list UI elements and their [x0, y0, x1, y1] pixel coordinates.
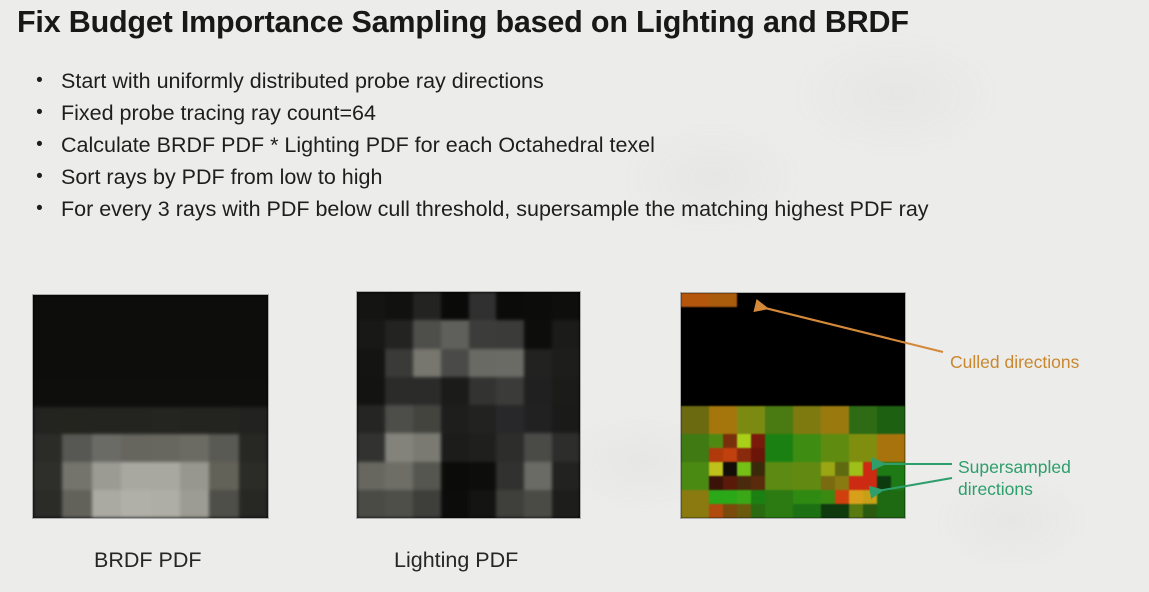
- bullet-text: Start with uniformly distributed probe r…: [61, 66, 544, 96]
- bullet-marker: •: [18, 66, 61, 96]
- supersampled-directions-label: Supersampled directions: [958, 456, 1071, 500]
- bullet-marker: •: [18, 162, 61, 192]
- slide-title: Fix Budget Importance Sampling based on …: [17, 5, 1137, 40]
- bullet-text: For every 3 rays with PDF below cull thr…: [61, 194, 929, 224]
- brdf-pdf-image: [33, 295, 268, 518]
- bullet-marker: •: [18, 194, 61, 224]
- lighting-pdf-caption: Lighting PDF: [394, 548, 518, 573]
- bullet-item: • For every 3 rays with PDF below cull t…: [18, 194, 1143, 226]
- bullet-marker: •: [18, 98, 61, 128]
- combined-pdf-image: [681, 293, 905, 518]
- result-pixel-grid: [681, 293, 905, 518]
- supersampled-label-line2: directions: [958, 478, 1071, 500]
- bullet-item: • Start with uniformly distributed probe…: [18, 66, 1143, 98]
- bullet-item: • Sort rays by PDF from low to high: [18, 162, 1143, 194]
- bullet-item: • Fixed probe tracing ray count=64: [18, 98, 1143, 130]
- brdf-pdf-caption: BRDF PDF: [94, 548, 202, 573]
- lighting-pdf-image: [357, 292, 580, 518]
- bullet-text: Fixed probe tracing ray count=64: [61, 98, 376, 128]
- bullet-item: • Calculate BRDF PDF * Lighting PDF for …: [18, 130, 1143, 162]
- bullet-list: • Start with uniformly distributed probe…: [18, 66, 1143, 226]
- bullet-text: Sort rays by PDF from low to high: [61, 162, 382, 192]
- lighting-pixel-grid: [357, 292, 580, 518]
- slide-canvas: Fix Budget Importance Sampling based on …: [0, 0, 1149, 592]
- supersampled-label-line1: Supersampled: [958, 456, 1071, 478]
- culled-directions-label: Culled directions: [950, 351, 1079, 373]
- bullet-marker: •: [18, 130, 61, 160]
- bullet-text: Calculate BRDF PDF * Lighting PDF for ea…: [61, 130, 655, 160]
- brdf-pixel-grid: [33, 295, 268, 518]
